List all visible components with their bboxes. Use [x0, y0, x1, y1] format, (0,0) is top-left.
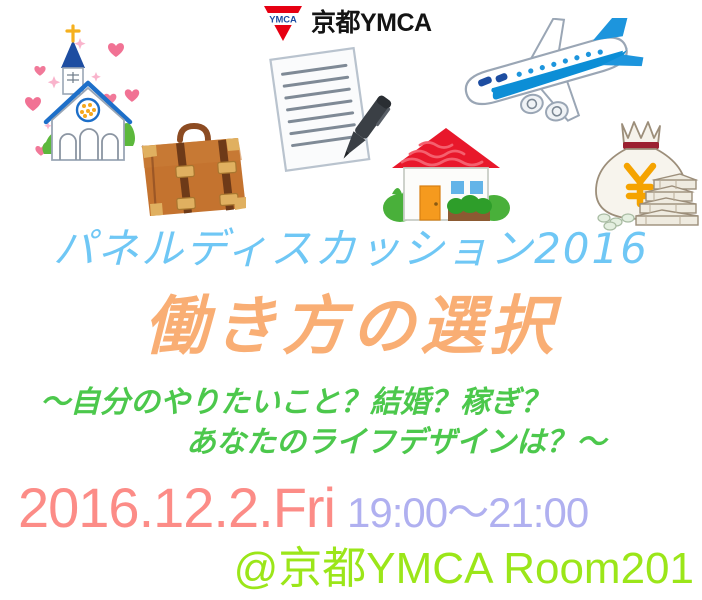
subtitle-line-1: 〜自分のやりたいこと？結婚？稼ぎ？ [40, 388, 550, 418]
event-date: 2016.12.2.Fri [18, 480, 335, 536]
page-title: 働き方の選択 [0, 295, 702, 359]
subtitle-line-2: あなたのライフデザインは？〜 [186, 428, 606, 458]
event-time: 19:00〜21:00 [347, 492, 588, 534]
ymca-org-name: 京都YMCA [311, 11, 432, 36]
event-datetime: 2016.12.2.Fri 19:00〜21:00 [0, 480, 702, 536]
event-poster: YMCA 京都YMCA パネルディスカッション2016 働き方の選択 〜自分のや… [0, 0, 702, 600]
house-illustration [378, 116, 514, 230]
illustration-band: YMCA 京都YMCA [0, 0, 702, 232]
money-bag-illustration [584, 114, 702, 232]
suitcase-illustration [124, 112, 260, 220]
series-title: パネルディスカッション2016 [0, 228, 702, 270]
event-venue: @京都YMCA Room201 [0, 547, 702, 591]
ymca-triangle-icon: YMCA [262, 3, 304, 43]
svg-text:YMCA: YMCA [269, 14, 297, 25]
ymca-logo: YMCA 京都YMCA [262, 3, 432, 43]
